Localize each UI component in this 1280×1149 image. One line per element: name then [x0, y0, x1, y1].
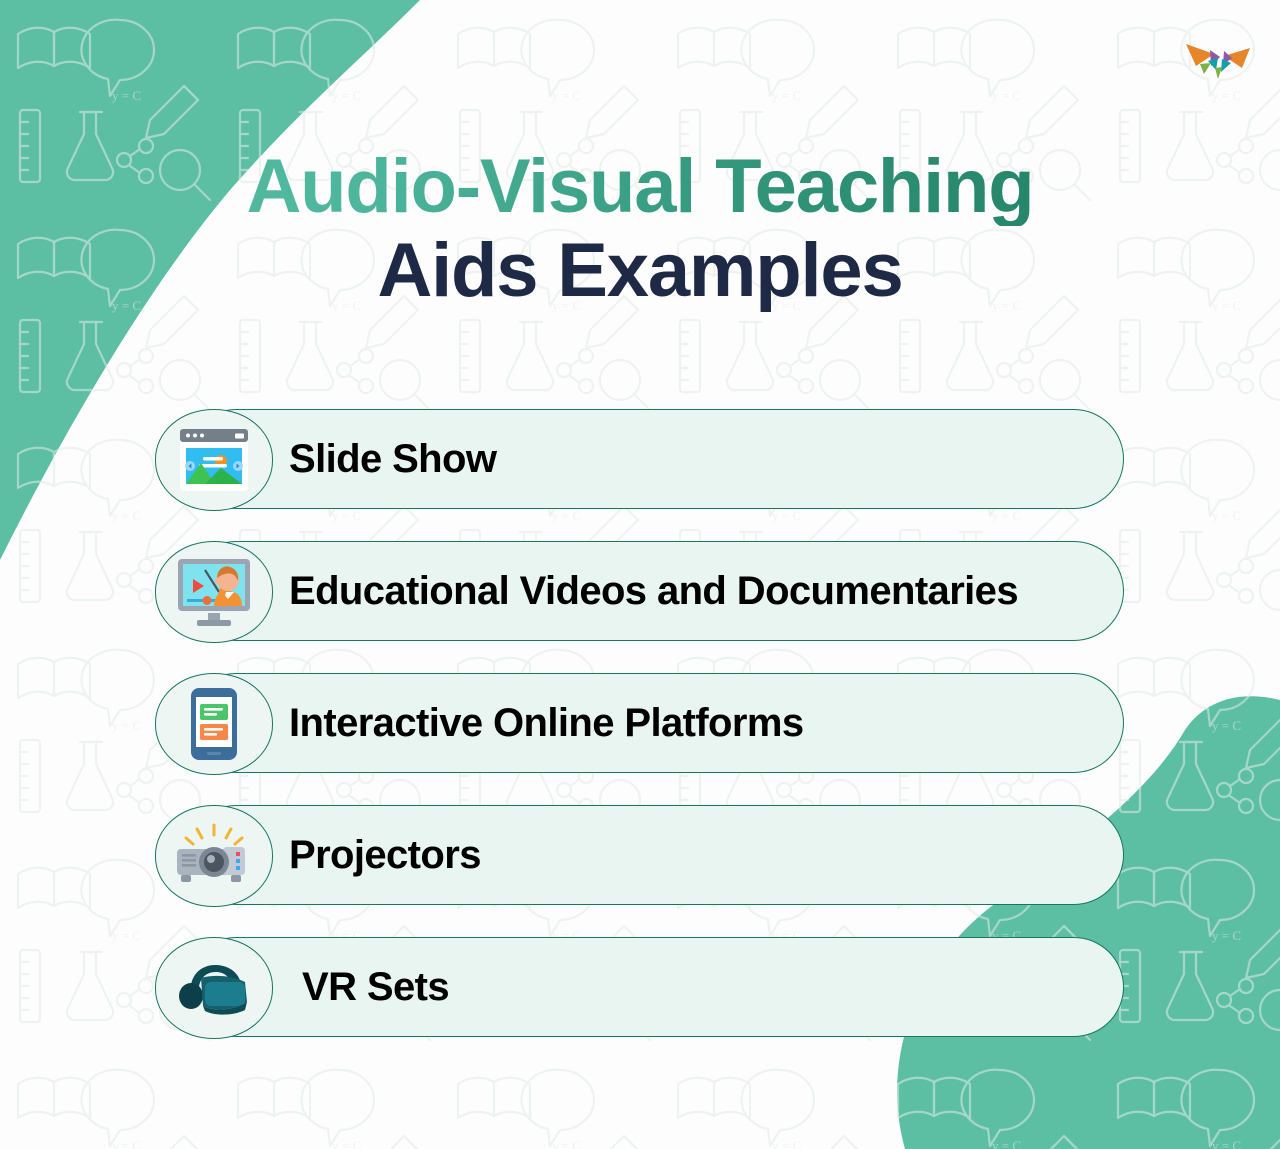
slideshow-browser-icon: [155, 409, 273, 511]
butterfly-logo-svg: [1184, 34, 1252, 86]
list-item-label: VR Sets: [302, 965, 449, 1010]
list-item-pill[interactable]: Educational Videos and Documentaries: [186, 541, 1124, 641]
smartphone-chat-icon-svg: [189, 686, 239, 762]
smartphone-chat-icon: [155, 673, 273, 775]
butterfly-logo: [1184, 34, 1252, 86]
list-item-label: Projectors: [289, 833, 481, 878]
monitor-presenter-icon-svg: [175, 556, 253, 628]
page-title: Audio-Visual Teaching Aids Examples: [0, 148, 1280, 316]
list-item-pill[interactable]: Projectors: [186, 805, 1124, 905]
vr-headset-icon-svg: [175, 958, 253, 1018]
list-item-pill[interactable]: Slide Show: [186, 409, 1124, 509]
list-item-label: Slide Show: [289, 437, 496, 482]
projector-icon-svg: [173, 823, 255, 889]
list-item-pill[interactable]: Interactive Online Platforms: [186, 673, 1124, 773]
list-item[interactable]: Slide Show: [0, 409, 1280, 509]
list-item-pill[interactable]: VR Sets: [186, 937, 1124, 1037]
list-item[interactable]: VR Sets: [0, 937, 1280, 1037]
infographic-canvas: y = C Audio-Visual Teaching Aids Example…: [0, 0, 1280, 1149]
monitor-presenter-icon: [155, 541, 273, 643]
vr-headset-icon: [155, 937, 273, 1039]
list-item[interactable]: Educational Videos and Documentaries: [0, 541, 1280, 641]
title-line-2: Aids Examples: [0, 226, 1280, 316]
projector-icon: [155, 805, 273, 907]
slideshow-browser-icon-svg: [177, 427, 251, 493]
list-item[interactable]: Interactive Online Platforms: [0, 673, 1280, 773]
list-item[interactable]: Projectors: [0, 805, 1280, 905]
list-item-label: Interactive Online Platforms: [289, 701, 803, 746]
title-line-1: Audio-Visual Teaching: [0, 148, 1280, 226]
examples-list: Slide Show: [0, 409, 1280, 1069]
list-item-label: Educational Videos and Documentaries: [289, 569, 1018, 614]
